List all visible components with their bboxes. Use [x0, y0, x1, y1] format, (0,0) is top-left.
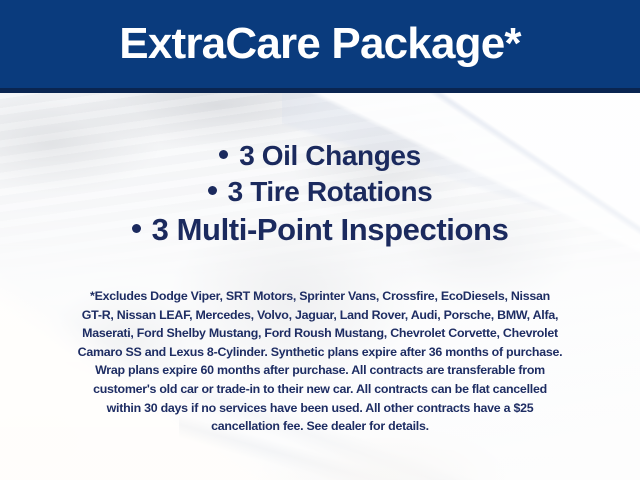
- header-banner: ExtraCare Package*: [0, 0, 640, 93]
- list-item: 3 Oil Changes: [0, 140, 640, 172]
- extracare-package-ad: ExtraCare Package* 3 Oil Changes 3 Tire …: [0, 0, 640, 480]
- list-item-label: 3 Oil Changes: [239, 140, 421, 171]
- bullet-dot-icon: [219, 150, 228, 159]
- disclaimer-text: *Excludes Dodge Viper, SRT Motors, Sprin…: [24, 287, 616, 436]
- disclaimer-line: cancellation fee. See dealer for details…: [24, 417, 616, 436]
- bullet-dot-icon: [208, 186, 217, 195]
- disclaimer-line: Maserati, Ford Shelby Mustang, Ford Rous…: [24, 324, 616, 343]
- disclaimer-line: within 30 days if no services have been …: [24, 399, 616, 418]
- benefits-list: 3 Oil Changes 3 Tire Rotations 3 Multi-P…: [0, 140, 640, 247]
- disclaimer-line: customer's old car or trade-in to their …: [24, 380, 616, 399]
- page-title: ExtraCare Package*: [0, 17, 640, 71]
- list-item: 3 Multi-Point Inspections: [0, 212, 640, 247]
- disclaimer-line: Camaro SS and Lexus 8-Cylinder. Syntheti…: [24, 343, 616, 362]
- list-item-label: 3 Tire Rotations: [228, 176, 433, 207]
- list-item: 3 Tire Rotations: [0, 176, 640, 208]
- disclaimer-line: GT-R, Nissan LEAF, Mercedes, Volvo, Jagu…: [24, 306, 616, 325]
- disclaimer-line: *Excludes Dodge Viper, SRT Motors, Sprin…: [24, 287, 616, 306]
- list-item-label: 3 Multi-Point Inspections: [152, 212, 509, 247]
- bullet-dot-icon: [132, 224, 141, 233]
- disclaimer-line: Wrap plans expire 60 months after purcha…: [24, 361, 616, 380]
